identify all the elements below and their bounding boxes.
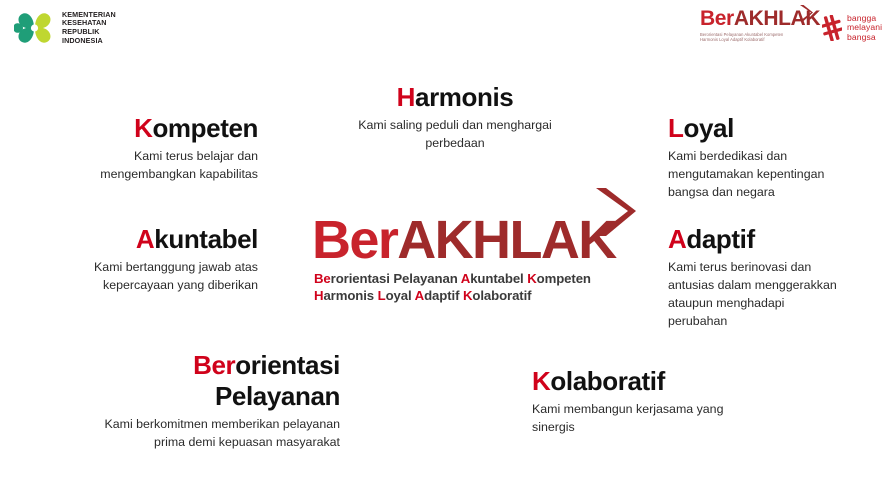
value-block-loyal: Loyal Kami berdedikasi dan mengutamakan … bbox=[668, 113, 880, 201]
kemenkes-logo: KEMENTERIAN KESEHATAN REPUBLIK INDONESIA bbox=[14, 6, 114, 50]
value-title-harmonis: Harmonis bbox=[330, 82, 580, 113]
value-desc-kompeten: Kami terus belajar dan mengembangkan kap… bbox=[28, 147, 258, 183]
value-desc-kolaboratif: Kami membangun kerjasama yang sinergis bbox=[532, 400, 762, 436]
value-rest-adaptif: daptif bbox=[686, 224, 754, 254]
value-initial-kolaboratif: K bbox=[532, 366, 550, 396]
value-block-harmonis: Harmonis Kami saling peduli dan mengharg… bbox=[330, 82, 580, 152]
berakhlak-header-logo: BerAKHLAK Berorientasi Pelayanan Akuntab… bbox=[700, 8, 818, 50]
tagline-hl-akuntabel: A bbox=[461, 271, 470, 286]
value-rest-harmonis: armonis bbox=[415, 82, 513, 112]
value-desc-berorientasi-pelayanan: Kami berkomitmen memberikan pelayanan pr… bbox=[48, 415, 340, 451]
tagline-rest-kolaboratif: olaboratif bbox=[472, 288, 531, 303]
value-initial-akuntabel: A bbox=[136, 224, 154, 254]
berakhlak-center-logo: BerAKHLAK Berorientasi Pelayanan Akuntab… bbox=[312, 186, 632, 304]
tagline-hl-loyal: L bbox=[378, 288, 386, 303]
tagline-rest-adaptif: daptif bbox=[424, 288, 463, 303]
value-title-akuntabel: Akuntabel bbox=[28, 224, 258, 255]
kemenkes-flower-logo-icon bbox=[14, 8, 56, 48]
tagline-hl-kompeten: K bbox=[527, 271, 536, 286]
tagline-rest-berorientasi: rorientasi Pelayanan bbox=[331, 271, 461, 286]
value-rest-akuntabel: kuntabel bbox=[154, 224, 258, 254]
value-desc-harmonis: Kami saling peduli dan menghargai perbed… bbox=[330, 116, 580, 152]
berakhlak-center-suffix: AKHLAK bbox=[397, 210, 615, 270]
tagline-rest-akuntabel: kuntabel bbox=[470, 271, 527, 286]
berakhlak-center-tagline-line2: Harmonis Loyal Adaptif Kolaboratif bbox=[314, 287, 591, 304]
value-desc-adaptif: Kami terus berinovasi dan antusias dalam… bbox=[668, 258, 880, 330]
value-initial-loyal: L bbox=[668, 113, 683, 143]
value-title-berorientasi-pelayanan: Berorientasi Pelayanan bbox=[48, 350, 340, 412]
value-block-kompeten: Kompeten Kami terus belajar dan mengemba… bbox=[28, 113, 258, 183]
value-title-kompeten: Kompeten bbox=[28, 113, 258, 144]
value-title-kolaboratif: Kolaboratif bbox=[532, 366, 762, 397]
value-block-berorientasi-pelayanan: Berorientasi Pelayanan Kami berkomitmen … bbox=[48, 350, 340, 451]
value-initial-berorientasi-pelayanan: Ber bbox=[193, 350, 235, 380]
berakhlak-center-wordmark: BerAKHLAK bbox=[312, 210, 616, 270]
value-title-adaptif: Adaptif bbox=[668, 224, 880, 255]
berakhlak-header-wordmark: BerAKHLAK bbox=[700, 8, 818, 30]
value-rest-loyal: oyal bbox=[683, 113, 733, 143]
value-rest-kolaboratif: olaboratif bbox=[550, 366, 664, 396]
tagline-hl-adaptif: A bbox=[415, 288, 424, 303]
value-title-loyal: Loyal bbox=[668, 113, 880, 144]
value-rest-kompeten: ompeten bbox=[152, 113, 258, 143]
tagline-rest-kompeten: ompeten bbox=[537, 271, 591, 286]
value-desc-loyal: Kami berdedikasi dan mengutamakan kepent… bbox=[668, 147, 880, 201]
berakhlak-center-tagline: Berorientasi Pelayanan Akuntabel Kompete… bbox=[314, 270, 591, 304]
kemenkes-wordmark: KEMENTERIAN KESEHATAN REPUBLIK INDONESIA bbox=[62, 11, 116, 45]
bangga-melayani-bangsa-logo: bangga melayani bangsa bbox=[822, 10, 890, 46]
value-desc-akuntabel: Kami bertanggung jawab atas kepercayaan … bbox=[28, 258, 258, 294]
value-initial-kompeten: K bbox=[134, 113, 152, 143]
value-block-adaptif: Adaptif Kami terus berinovasi dan antusi… bbox=[668, 224, 880, 330]
tagline-rest-loyal: oyal bbox=[386, 288, 415, 303]
chevron-right-icon bbox=[798, 4, 814, 27]
tagline-hl-berorientasi: Be bbox=[314, 271, 331, 286]
value-initial-harmonis: H bbox=[397, 82, 415, 112]
berakhlak-center-prefix: Ber bbox=[312, 210, 397, 270]
bangga-melayani-bangsa-text: bangga melayani bangsa bbox=[847, 14, 882, 43]
berakhlak-center-tagline-line1: Berorientasi Pelayanan Akuntabel Kompete… bbox=[314, 270, 591, 287]
berakhlak-header-tagline: Berorientasi Pelayanan Akuntabel Kompete… bbox=[700, 32, 818, 43]
value-initial-adaptif: A bbox=[668, 224, 686, 254]
berakhlak-header-prefix: Ber bbox=[700, 7, 734, 30]
value-block-kolaboratif: Kolaboratif Kami membangun kerjasama yan… bbox=[532, 366, 762, 436]
tagline-rest-harmonis: armonis bbox=[323, 288, 377, 303]
value-block-akuntabel: Akuntabel Kami bertanggung jawab atas ke… bbox=[28, 224, 258, 294]
bangga-melayani-bangsa-mark-icon bbox=[822, 15, 842, 41]
tagline-hl-kolaboratif: K bbox=[463, 288, 472, 303]
